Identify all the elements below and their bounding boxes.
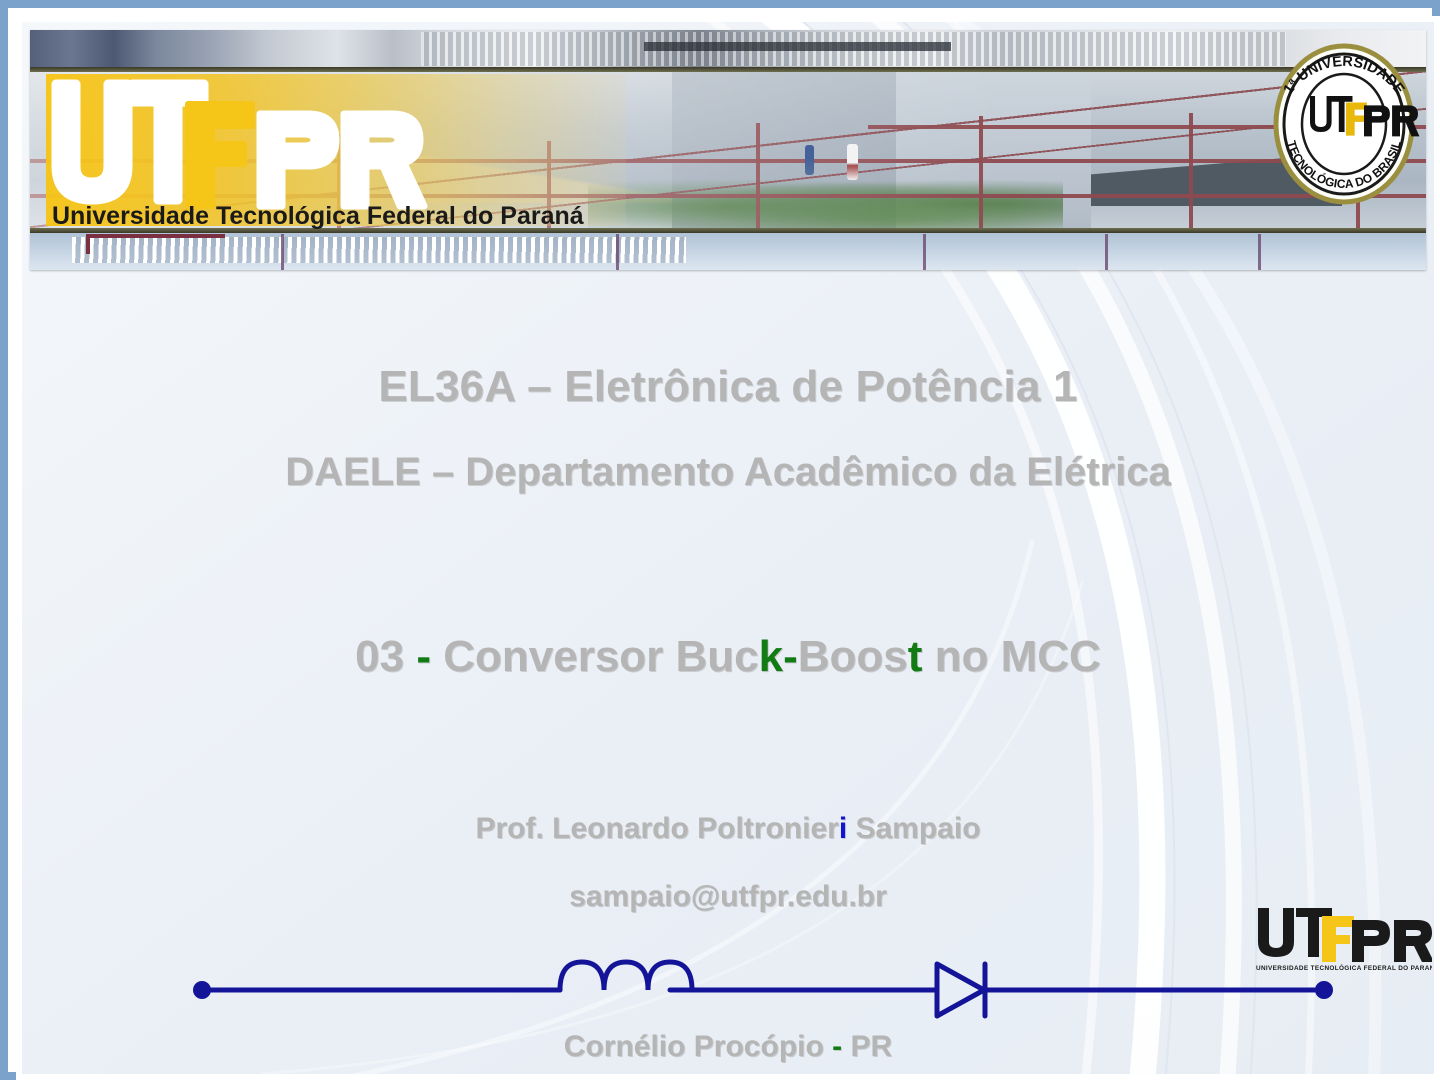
slide-main-title: 03 - Conversor Buck-Boost no MCC xyxy=(22,632,1434,682)
photo-red-bar xyxy=(86,234,226,238)
professor-highlight-i: i xyxy=(839,812,847,845)
title-highlight-k: k- xyxy=(759,632,798,681)
department-line: DAELE – Departamento Acadêmico da Elétri… xyxy=(22,450,1434,495)
title-part1: Conversor Buc xyxy=(431,632,759,681)
slide-canvas: Universidade Tecnológica Federal do Para… xyxy=(22,22,1434,1074)
mini-logo-caption: UNIVERSIDADE TECNOLÓGICA FEDERAL DO PARA… xyxy=(1256,963,1432,972)
photo-mullion-1 xyxy=(281,234,284,270)
photo-red-post xyxy=(86,234,90,254)
professor-part2: Sampaio xyxy=(847,812,980,845)
photo-bottom-strip xyxy=(30,228,1426,270)
title-part2: Boos xyxy=(798,632,908,681)
professor-part1: Prof. Leonardo Poltronier xyxy=(475,812,838,845)
logo-subtitle: Universidade Tecnológica Federal do Para… xyxy=(52,202,584,230)
city-dash: - xyxy=(832,1030,842,1063)
photo-mullion-2 xyxy=(616,234,619,270)
terminal-dot-left xyxy=(193,981,211,999)
utfpr-logo-lockup: Universidade Tecnológica Federal do Para… xyxy=(46,74,606,230)
campus-city-line: Cornélio Procópio - PR xyxy=(22,1030,1434,1064)
photo-louvers xyxy=(72,237,686,263)
professor-name-line: Prof. Leonardo Poltronieri Sampaio xyxy=(22,812,1434,846)
utfpr-mini-logo: UNIVERSIDADE TECNOLÓGICA FEDERAL DO PARA… xyxy=(1252,902,1432,972)
course-title-line: EL36A – Eletrônica de Potência 1 xyxy=(22,362,1434,412)
slide-outer-frame: Universidade Tecnológica Federal do Para… xyxy=(0,0,1440,1080)
photo-mullion-4 xyxy=(1105,234,1108,270)
title-part3: no MCC xyxy=(922,632,1100,681)
slide-inner-frame: Universidade Tecnológica Federal do Para… xyxy=(16,16,1440,1080)
photo-mullion-3 xyxy=(923,234,926,270)
photo-mullion-5 xyxy=(1258,234,1261,270)
photo-dark-band xyxy=(644,42,951,51)
utfpr-header-banner: Universidade Tecnológica Federal do Para… xyxy=(30,30,1426,270)
utfpr-seal: 1ª UNIVERSIDADE TECNOLÓGICA DO BRASIL xyxy=(1258,38,1426,210)
city-name: Cornélio Procópio xyxy=(564,1030,824,1063)
title-highlight-t: t xyxy=(908,632,923,681)
circuit-diagram xyxy=(172,952,1372,1032)
title-dash: - xyxy=(416,632,431,681)
title-number: 03 xyxy=(355,632,404,681)
photo-top-strip xyxy=(30,30,1426,72)
terminal-dot-right xyxy=(1315,981,1333,999)
professor-email: sampaio@utfpr.edu.br xyxy=(22,880,1434,914)
city-state: PR xyxy=(851,1030,893,1063)
utfpr-wordmark: Universidade Tecnológica Federal do Para… xyxy=(46,74,626,230)
